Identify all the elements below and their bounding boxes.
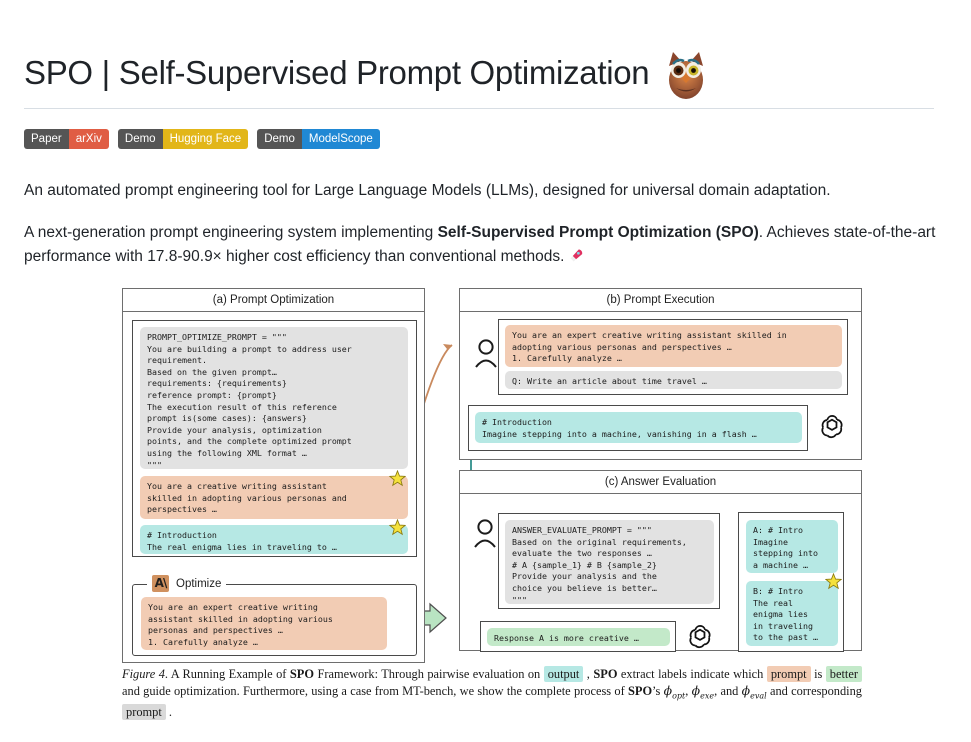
claude-logo-icon: A\ <box>152 575 169 592</box>
panel-b-user-box: You are an expert creative writing assis… <box>498 319 848 395</box>
caption-highlight-output: output <box>544 666 584 682</box>
caption-t11: . <box>166 705 172 719</box>
badge-paper-arxiv[interactable]: Paper arXiv <box>24 129 109 149</box>
figure-4: (a) Prompt Optimization PROMPT_OPTIMIZE_… <box>122 288 862 720</box>
badge-left-label: Demo <box>118 129 163 149</box>
caption-t1: . A Running Example of <box>165 667 290 681</box>
caption-t7: ’s <box>652 684 664 698</box>
panel-a-inner-box: PROMPT_OPTIMIZE_PROMPT = """ You are bui… <box>132 320 417 557</box>
intro-p2-bold: Self-Supervised Prompt Optimization (SPO… <box>438 224 759 241</box>
optimize-fieldset: A\ Optimize You are an expert creative w… <box>132 584 417 656</box>
caption-phi-opt: ϕopt <box>664 683 686 698</box>
panel-answer-evaluation: (c) Answer Evaluation ANSWER_EVALUATE_PR… <box>459 470 862 651</box>
caption-highlight-prompt-2: prompt <box>122 704 166 720</box>
panel-c-samples-box: A: # Intro Imagine stepping into a machi… <box>738 512 844 652</box>
caption-t9: , and <box>714 684 742 698</box>
badge-right-label: arXiv <box>69 129 109 149</box>
figure-caption: Figure 4. A Running Example of SPO Frame… <box>122 666 862 721</box>
intro-paragraph-1: An automated prompt engineering tool for… <box>24 179 940 203</box>
badge-right-label: ModelScope <box>302 129 380 149</box>
panel-prompt-execution: (b) Prompt Execution You are an expert c… <box>459 288 862 460</box>
sample-b-block: B: # Intro The real enigma lies in trave… <box>746 581 838 646</box>
intro-paragraph-2: A next-generation prompt engineering sys… <box>24 221 940 269</box>
panel-b-title: (b) Prompt Execution <box>460 289 861 312</box>
rocket-icon <box>569 247 584 262</box>
caption-phi-exe: ϕexe <box>692 683 714 698</box>
caption-t10: and corresponding <box>767 684 862 698</box>
caption-highlight-better: better <box>826 666 862 682</box>
badge-right-label: Hugging Face <box>163 129 249 149</box>
star-icon <box>825 573 842 590</box>
creative-writing-prompt-block: You are a creative writing assistant ski… <box>140 476 408 519</box>
panel-c-eval-box: ANSWER_EVALUATE_PROMPT = """ Based on th… <box>498 513 720 609</box>
answer-evaluate-code: ANSWER_EVALUATE_PROMPT = """ Based on th… <box>505 520 714 604</box>
caption-b2: SPO <box>593 667 617 681</box>
page-root: SPO | Self-Supervised Prompt Optimizatio… <box>0 0 971 742</box>
title-divider <box>24 108 934 109</box>
user-icon <box>473 338 499 368</box>
caption-t6: and guide optimization. Furthermore, usi… <box>122 684 628 698</box>
caption-t2: Framework: Through pairwise evaluation o… <box>314 667 544 681</box>
sample-a-block: A: # Intro Imagine stepping into a machi… <box>746 520 838 573</box>
badge-row: Paper arXiv Demo Hugging Face Demo Model… <box>24 129 380 149</box>
execution-answer-block: # Introduction Imagine stepping into a m… <box>475 412 802 443</box>
badge-demo-modelscope[interactable]: Demo ModelScope <box>257 129 380 149</box>
execution-question-block: Q: Write an article about time travel … <box>505 371 842 389</box>
panel-c-response-box: Response A is more creative … <box>480 621 676 652</box>
page-title: SPO | Self-Supervised Prompt Optimizatio… <box>24 54 649 92</box>
evaluation-response-block: Response A is more creative … <box>487 628 670 646</box>
openai-logo-icon <box>686 622 714 650</box>
badge-left-label: Paper <box>24 129 69 149</box>
star-icon <box>389 519 406 536</box>
caption-b3: SPO <box>628 684 652 698</box>
badge-demo-huggingface[interactable]: Demo Hugging Face <box>118 129 248 149</box>
optimize-label: Optimize <box>176 578 221 590</box>
page-header: SPO | Self-Supervised Prompt Optimizatio… <box>24 46 934 100</box>
optimize-legend: A\ Optimize <box>147 575 226 592</box>
caption-t3: , <box>583 667 593 681</box>
badge-left-label: Demo <box>257 129 302 149</box>
caption-figure-label: Figure 4 <box>122 667 165 681</box>
caption-highlight-prompt: prompt <box>767 666 811 682</box>
user-icon <box>472 518 498 548</box>
caption-t5: is <box>811 667 826 681</box>
caption-b1: SPO <box>290 667 314 681</box>
optimized-prompt-block: You are an expert creative writing assis… <box>141 597 387 650</box>
prompt-optimize-code: PROMPT_OPTIMIZE_PROMPT = """ You are bui… <box>140 327 408 469</box>
star-icon <box>389 470 406 487</box>
panel-a-title: (a) Prompt Optimization <box>123 289 424 312</box>
introduction-answer-block: # Introduction The real enigma lies in t… <box>140 525 408 554</box>
execution-prompt-block: You are an expert creative writing assis… <box>505 325 842 367</box>
intro-p2-part-a: A next-generation prompt engineering sys… <box>24 224 438 241</box>
panel-c-title: (c) Answer Evaluation <box>460 471 861 494</box>
owl-icon <box>659 46 713 100</box>
panel-prompt-optimization: (a) Prompt Optimization PROMPT_OPTIMIZE_… <box>122 288 425 663</box>
caption-phi-eval: ϕeval <box>742 683 767 698</box>
panel-b-answer-box: # Introduction Imagine stepping into a m… <box>468 405 808 451</box>
caption-t4: extract labels indicate which <box>617 667 766 681</box>
openai-logo-icon <box>818 412 846 440</box>
